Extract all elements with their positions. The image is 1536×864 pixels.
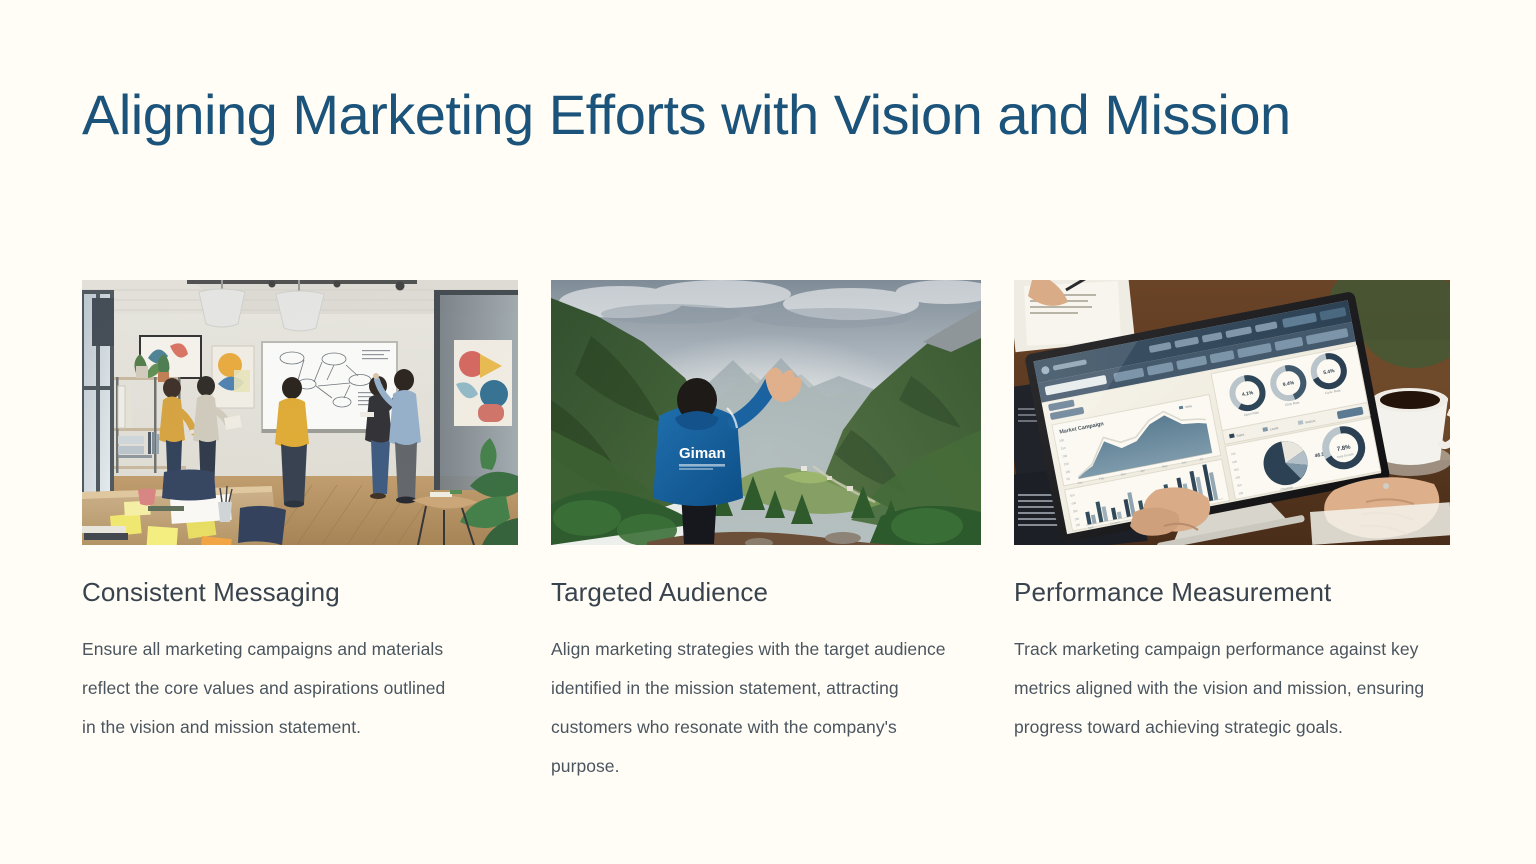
card-body-text: Track marketing campaign performance aga… [1014, 630, 1439, 747]
card-body-text: Ensure all marketing campaigns and mater… [82, 630, 454, 747]
card-heading: Performance Measurement [1014, 577, 1450, 608]
mountain-valley-vision-photo: Giman [551, 280, 981, 545]
card-heading: Consistent Messaging [82, 577, 518, 608]
feature-card: Consistent Messaging Ensure all marketin… [82, 280, 518, 786]
feature-card: Giman Targeted Audience Align marketing … [551, 280, 981, 786]
svg-text:Giman: Giman [679, 445, 726, 462]
page-title: Aligning Marketing Efforts with Vision a… [82, 82, 1462, 148]
office-brainstorming-photo [82, 280, 518, 545]
card-heading: Targeted Audience [551, 577, 981, 608]
card-body-text: Align marketing strategies with the targ… [551, 630, 963, 785]
analytics-dashboard-photo: Market Campaign 300250 200150 10050 JanF… [1014, 280, 1450, 545]
feature-card: Market Campaign 300250 200150 10050 JanF… [1014, 280, 1450, 786]
feature-card-grid: Consistent Messaging Ensure all marketin… [82, 280, 1454, 786]
